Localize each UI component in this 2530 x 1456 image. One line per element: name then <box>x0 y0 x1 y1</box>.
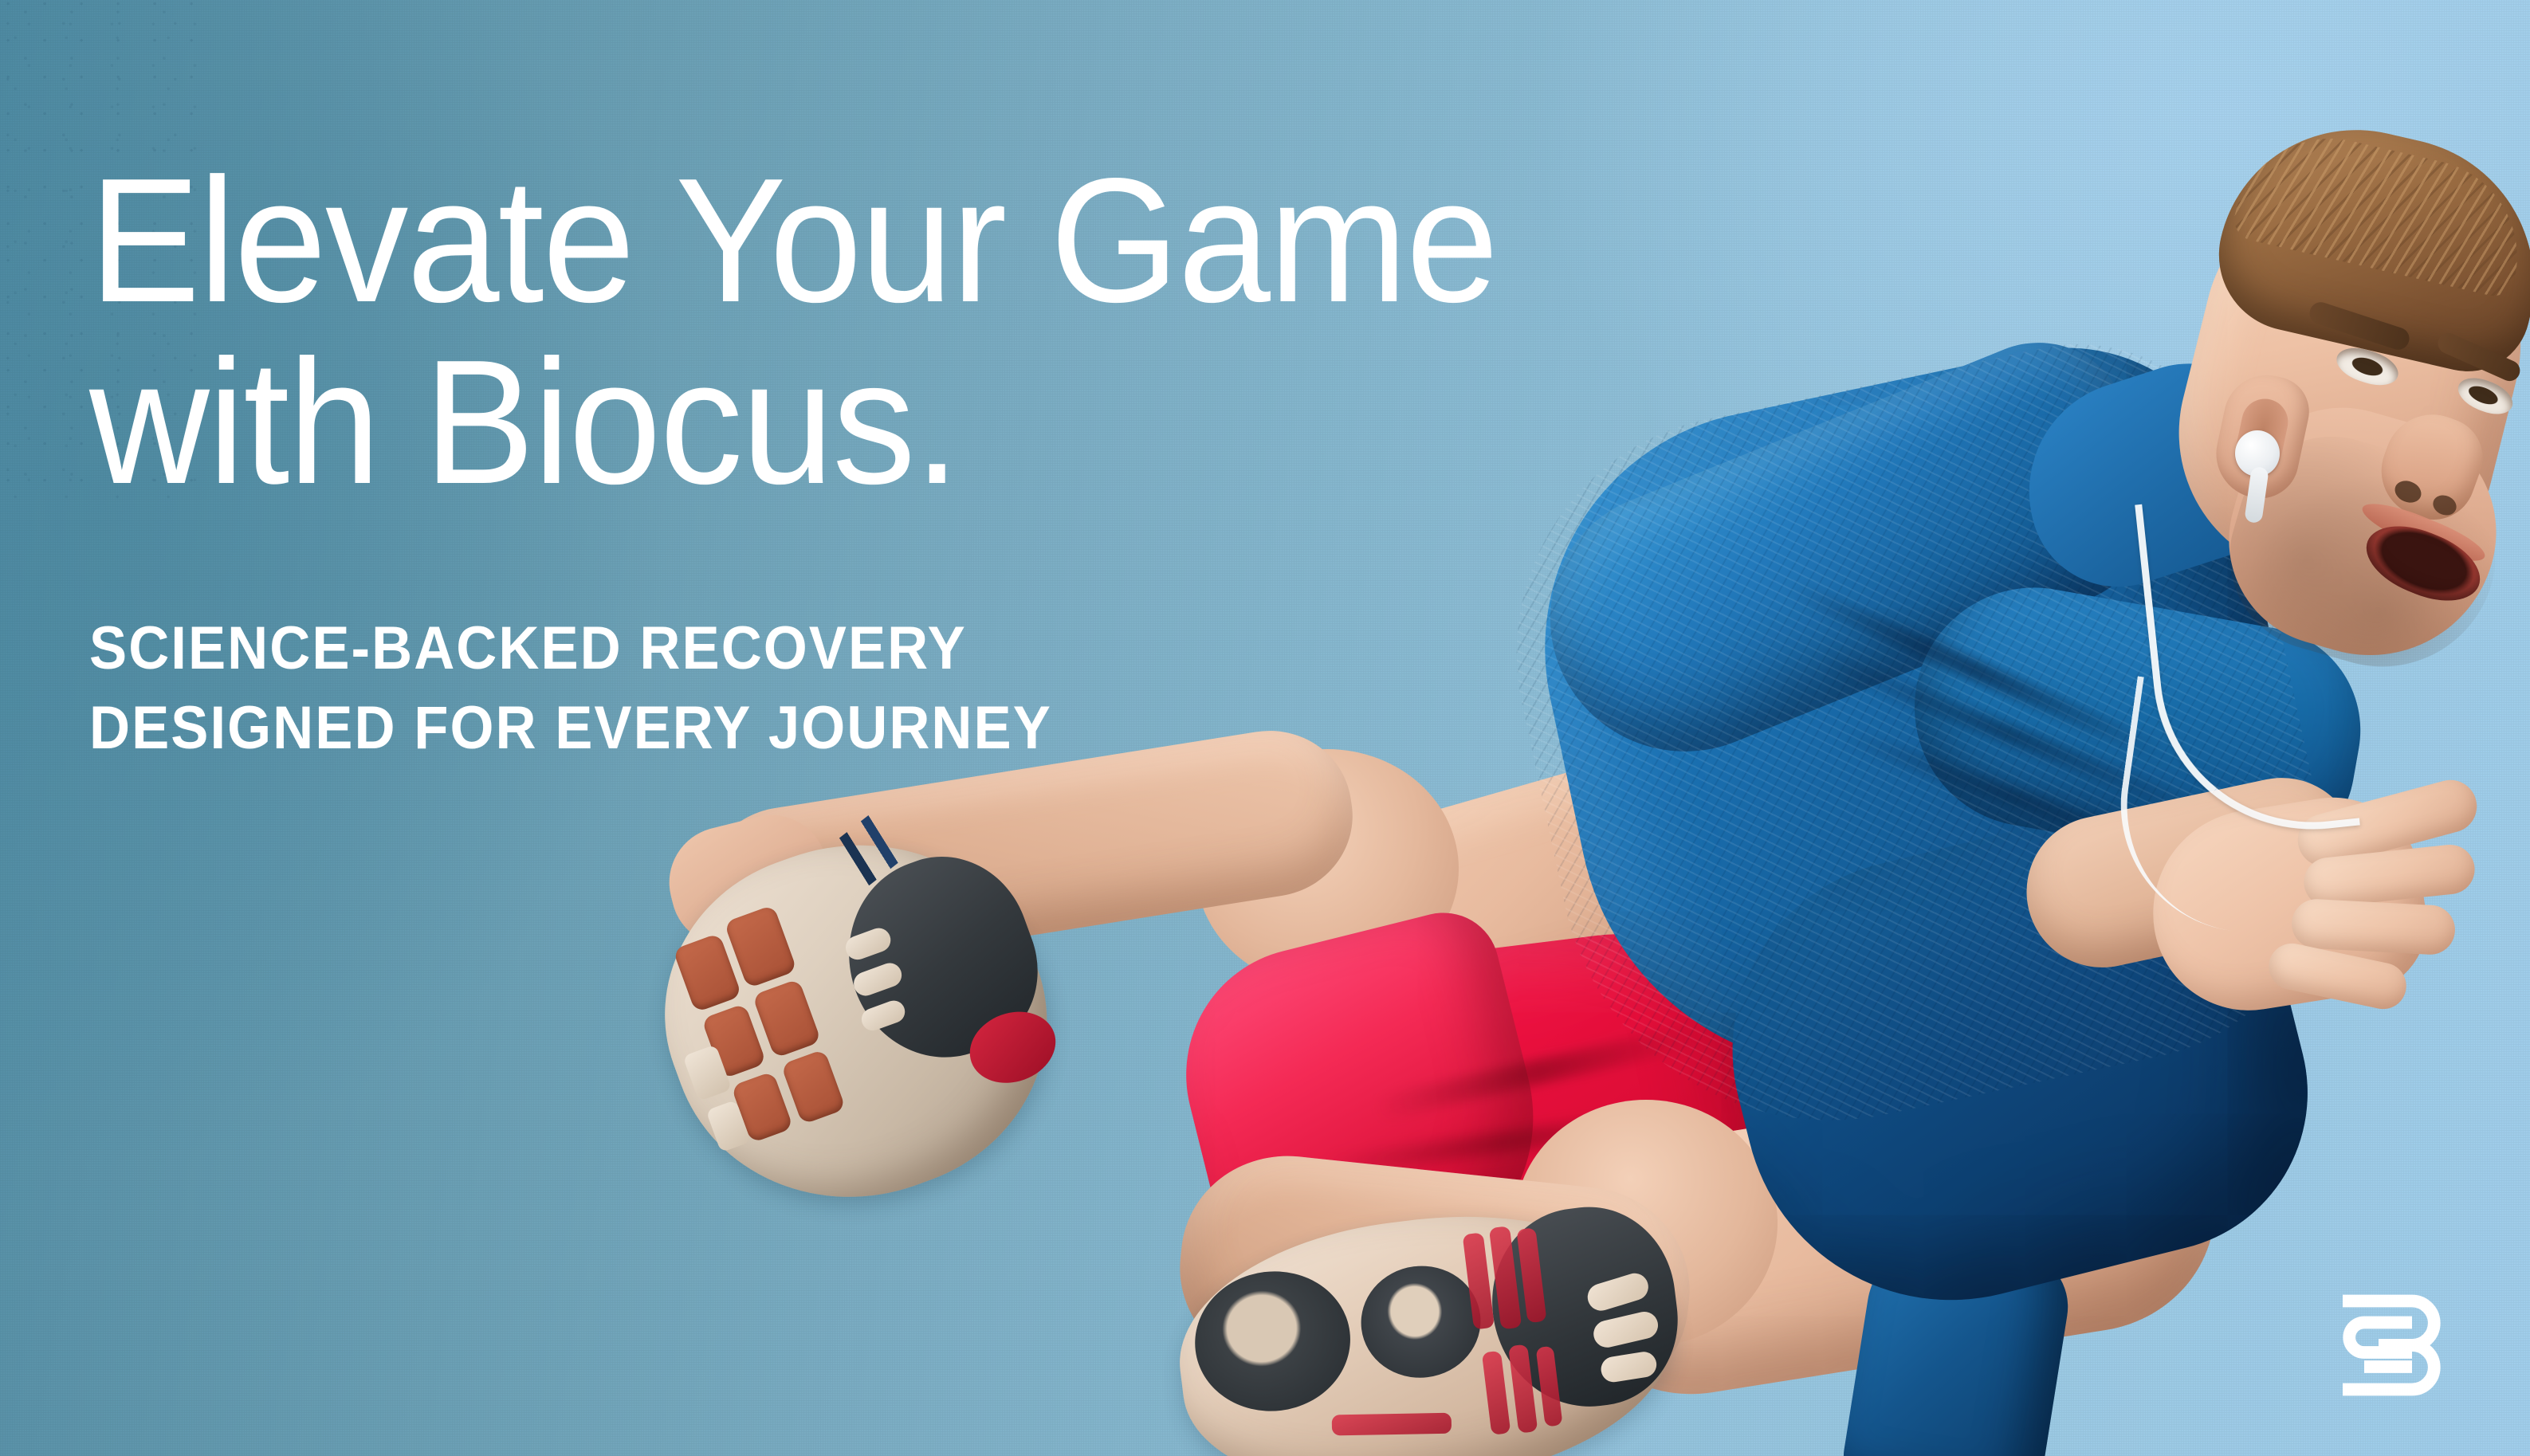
brand-logo[interactable] <box>2336 1285 2455 1405</box>
page-title: Elevate Your Game with Biocus. <box>89 150 1497 513</box>
hand-finger <box>2291 898 2457 956</box>
hero-copy-block: Elevate Your Game with Biocus. SCIENCE-B… <box>89 150 1587 768</box>
hero-banner: Elevate Your Game with Biocus. SCIENCE-B… <box>0 0 2530 1456</box>
subheading: SCIENCE-BACKED RECOVERY DESIGNED FOR EVE… <box>89 513 1482 768</box>
biocus-monogram-icon <box>2336 1285 2455 1405</box>
shoe-groove <box>1332 1413 1452 1436</box>
